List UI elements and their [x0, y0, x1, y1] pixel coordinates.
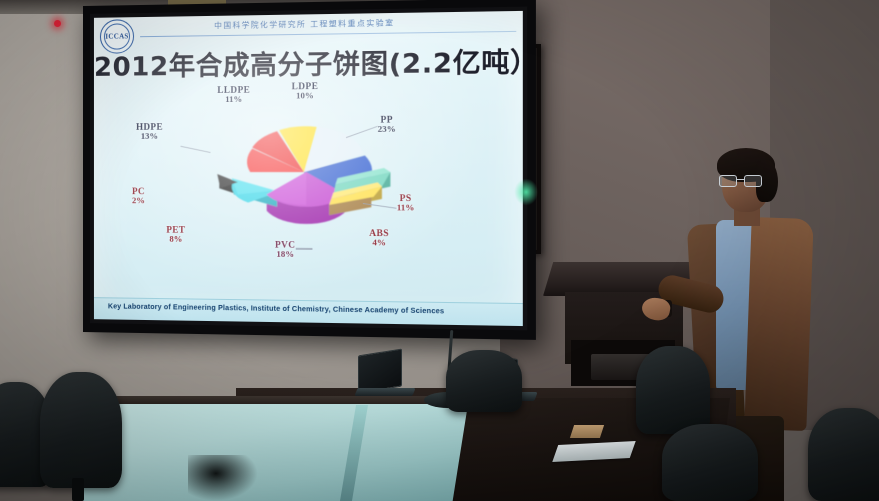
conference-room-scene: ICCAS 中国科学院化学研究所 工程塑料重点实验室 2012年合成高分子饼图(…	[0, 0, 879, 501]
lens-right	[744, 175, 762, 187]
red-indicator-light-icon	[54, 20, 61, 27]
chair-center[interactable]	[446, 350, 522, 412]
pie-label-pvc: PVC 18%	[275, 239, 295, 260]
pie-label-pp: PP 23%	[378, 114, 396, 135]
pie-label-ps: PS 11%	[397, 193, 415, 214]
table-card[interactable]	[570, 425, 604, 438]
laptop-left-lid	[358, 349, 402, 394]
pie-chart-3d	[207, 116, 403, 238]
pie-label-pet: PET 8%	[166, 224, 185, 244]
laptop-left-base	[354, 388, 415, 396]
front-table-surface	[81, 404, 468, 501]
glasses-bridge	[737, 179, 744, 180]
pie-label-pc: PC 2%	[132, 186, 145, 206]
pie-chart-svg	[207, 116, 403, 238]
laptop-left[interactable]	[356, 352, 414, 400]
leader-line-pvc	[296, 248, 313, 250]
chair-far-right[interactable]	[808, 408, 879, 501]
pie-label-hdpe: HDPE 13%	[136, 122, 163, 142]
pie-label-abs: ABS 4%	[369, 228, 389, 249]
chair-right-1[interactable]	[636, 346, 710, 434]
chair-left-2-post	[72, 478, 84, 501]
slide-header-chinese: 中国科学院化学研究所 工程塑料重点实验室	[214, 17, 394, 31]
pie-chart-area: LLDPE 11% LDPE 10% PP 23% HDPE 13% PS	[94, 76, 523, 299]
lens-left	[719, 175, 737, 187]
header-divider	[140, 31, 516, 37]
chair-left-2[interactable]	[40, 372, 122, 488]
projection-screen: ICCAS 中国科学院化学研究所 工程塑料重点实验室 2012年合成高分子饼图(…	[83, 0, 536, 340]
eyeglasses-icon	[719, 175, 765, 187]
presentation-slide: ICCAS 中国科学院化学研究所 工程塑料重点实验室 2012年合成高分子饼图(…	[94, 11, 523, 326]
pie-label-ldpe: LDPE 10%	[292, 81, 319, 102]
jacket-right-side	[744, 217, 813, 431]
slide-footer-text: Key Laboratory of Engineering Plastics, …	[108, 303, 444, 315]
pie-label-lldpe: LLDPE 11%	[217, 85, 250, 106]
floor-cables	[188, 455, 258, 501]
chair-right-2[interactable]	[662, 424, 758, 501]
